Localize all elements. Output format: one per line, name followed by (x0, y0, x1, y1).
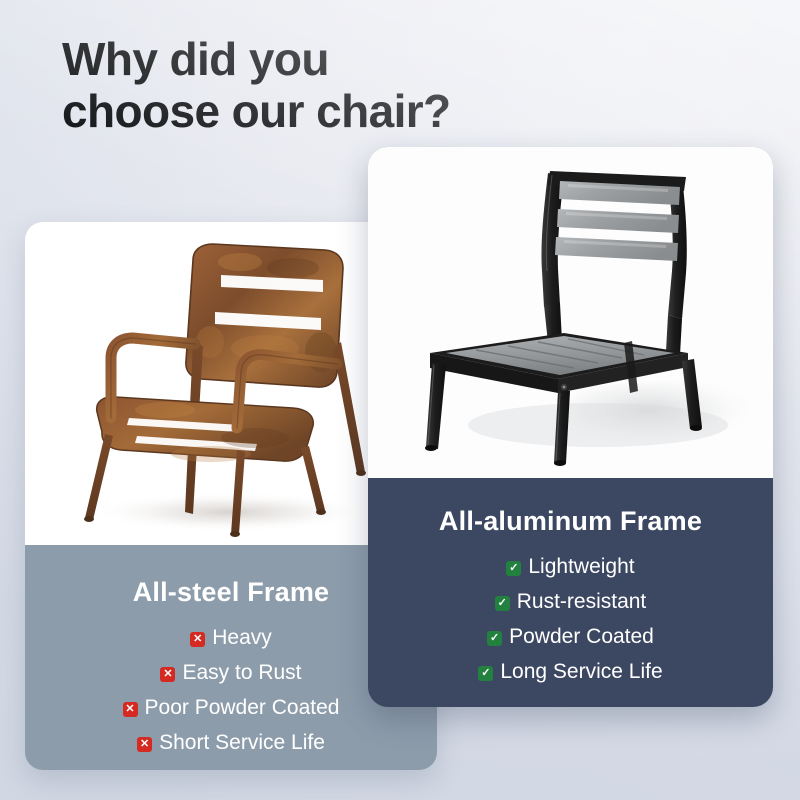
feature-label: Powder Coated (509, 625, 654, 648)
aluminum-frame-title: All-aluminum Frame (368, 506, 773, 537)
cross-icon: ✕ (123, 702, 138, 717)
check-icon: ✓ (478, 666, 493, 681)
feature-label: Long Service Life (500, 660, 662, 683)
check-icon: ✓ (506, 561, 521, 576)
cross-icon: ✕ (137, 737, 152, 752)
page-title-line-2: choose our chair? (62, 85, 532, 137)
check-icon: ✓ (495, 596, 510, 611)
feature-label: Short Service Life (159, 731, 325, 754)
aluminum-feature-list: ✓Lightweight ✓Rust-resistant ✓Powder Coa… (368, 549, 773, 689)
black-aluminum-chair-illustration (368, 147, 773, 478)
page-title: Why did you choose our chair? (62, 33, 532, 137)
feature-label: Rust-resistant (517, 590, 647, 613)
feature-label: Lightweight (528, 555, 634, 578)
comparison-card-aluminum[interactable]: All-aluminum Frame ✓Lightweight ✓Rust-re… (368, 147, 773, 707)
list-item: ✓Lightweight (368, 549, 773, 584)
feature-label: Heavy (212, 626, 272, 649)
feature-label: Poor Powder Coated (145, 696, 340, 719)
list-item: ✕Short Service Life (25, 725, 437, 760)
list-item: ✓Rust-resistant (368, 584, 773, 619)
check-icon: ✓ (487, 631, 502, 646)
list-item: ✓Powder Coated (368, 619, 773, 654)
page-title-line-1: Why did you (62, 33, 329, 85)
feature-label: Easy to Rust (182, 661, 301, 684)
list-item: ✓Long Service Life (368, 654, 773, 689)
cross-icon: ✕ (160, 667, 175, 682)
aluminum-card-panel: All-aluminum Frame ✓Lightweight ✓Rust-re… (368, 478, 773, 707)
infographic-canvas: Why did you choose our chair? (0, 0, 800, 800)
cross-icon: ✕ (190, 632, 205, 647)
aluminum-chair-photo (368, 147, 773, 478)
